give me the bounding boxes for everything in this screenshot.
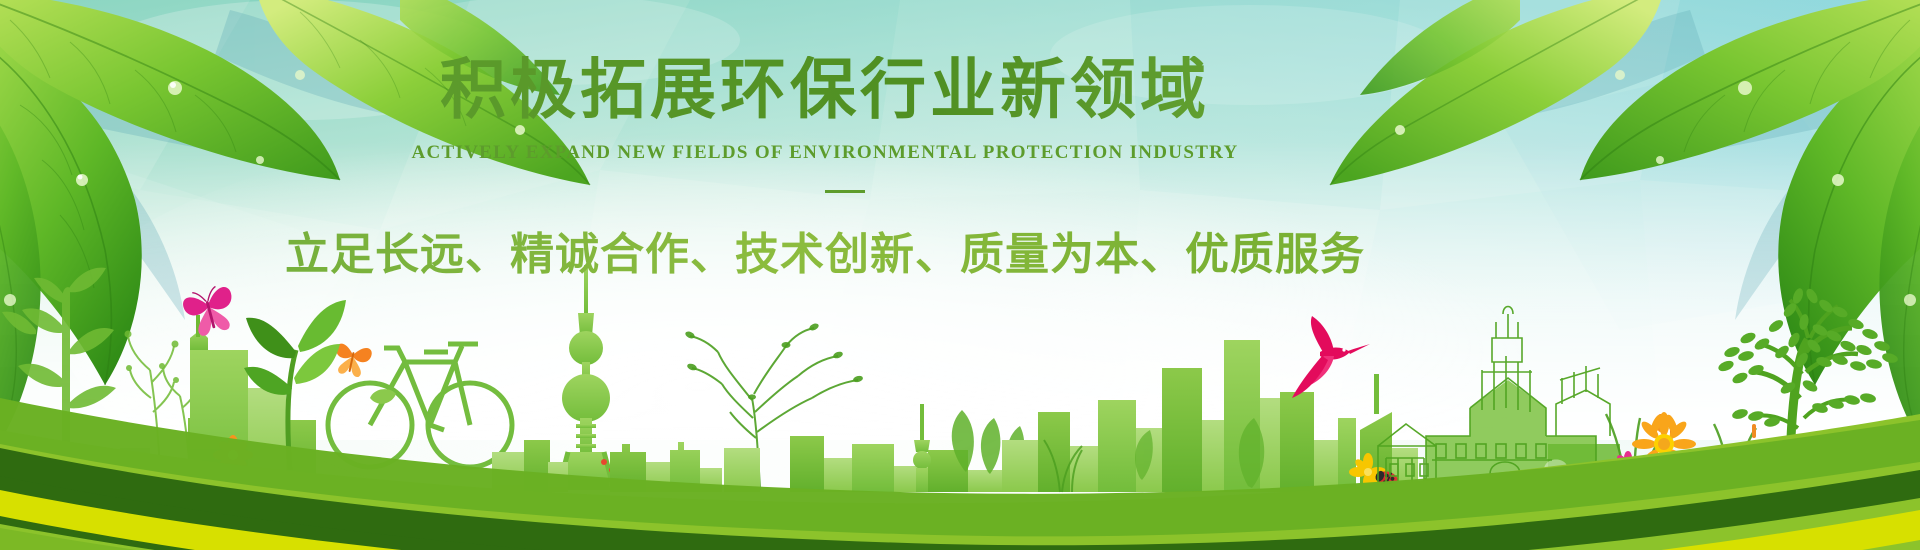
wave-ribbons [0,0,1920,550]
eco-banner: 积极拓展环保行业新领域 ACTIVELY EXPAND NEW FIELDS O… [0,0,1920,550]
